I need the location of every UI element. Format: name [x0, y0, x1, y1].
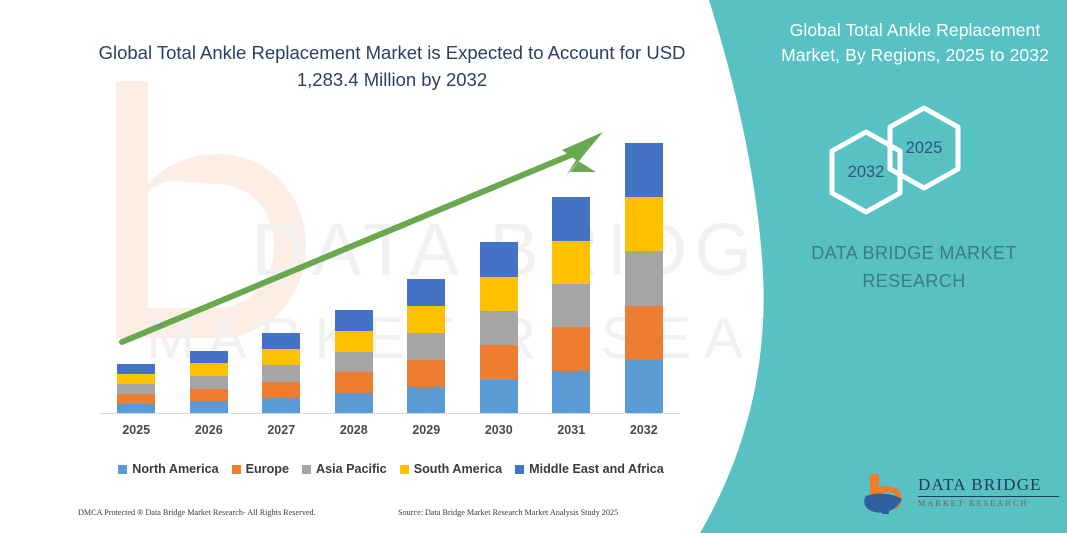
- bar-segment: [262, 333, 300, 349]
- bar-segment: [117, 384, 155, 394]
- footer: DMCA Protected ® Data Bridge Market Rese…: [78, 508, 690, 522]
- bar-segment: [190, 351, 228, 364]
- bar-segment: [407, 306, 445, 333]
- legend-label: Asia Pacific: [316, 462, 387, 476]
- x-axis-label: 2031: [536, 423, 606, 437]
- legend-item: Asia Pacific: [302, 462, 387, 476]
- x-axis-label: 2032: [609, 423, 679, 437]
- bar-segment: [480, 277, 518, 311]
- bar-column: [117, 364, 155, 414]
- logo-wordmark: DATA BRIDGE MARKET RESEARCH: [918, 475, 1060, 508]
- legend-label: North America: [132, 462, 218, 476]
- bar-segment: [625, 306, 663, 360]
- chart-legend: North AmericaEuropeAsia PacificSouth Ame…: [98, 459, 684, 479]
- bar-segment: [625, 197, 663, 251]
- bar-segment: [262, 382, 300, 398]
- brand-name: DATA BRIDGE MARKET RESEARCH: [774, 240, 1054, 296]
- infographic-canvas: DATA BRIDGE MARKET RESEARCH Global Total…: [0, 0, 1067, 533]
- footer-copyright: DMCA Protected ® Data Bridge Market Rese…: [78, 508, 316, 517]
- x-axis-label: 2025: [101, 423, 171, 437]
- bar-segment: [262, 365, 300, 381]
- bar-segment: [335, 352, 373, 373]
- footer-source: Source: Data Bridge Market Research Mark…: [398, 508, 618, 517]
- legend-swatch-icon: [302, 465, 311, 474]
- bar-segment: [552, 327, 590, 370]
- company-logo: DATA BRIDGE MARKET RESEARCH: [862, 470, 1062, 522]
- bar-segment: [117, 394, 155, 404]
- legend-label: Middle East and Africa: [529, 462, 664, 476]
- bar-segment: [480, 242, 518, 276]
- bar-column: [407, 279, 445, 414]
- bar-segment: [407, 279, 445, 306]
- hexagon-start-year: 2025: [886, 105, 962, 191]
- bar-segment: [335, 372, 373, 393]
- legend-label: South America: [414, 462, 502, 476]
- logo-subtitle: MARKET RESEARCH: [918, 499, 1060, 508]
- bar-column: [480, 242, 518, 414]
- bar-segment: [407, 360, 445, 387]
- bar-column: [552, 197, 590, 414]
- bar-column: [262, 333, 300, 414]
- bar-segment: [480, 311, 518, 345]
- bar-segment: [407, 333, 445, 360]
- bar-chart-plot: [100, 128, 680, 414]
- bar-segment: [625, 143, 663, 197]
- x-axis-label: 2030: [464, 423, 534, 437]
- right-panel-title: Global Total Ankle Replacement Market, B…: [776, 18, 1054, 68]
- x-axis-label: 2026: [174, 423, 244, 437]
- legend-swatch-icon: [118, 465, 127, 474]
- bar-segment: [407, 387, 445, 414]
- bar-segment: [552, 241, 590, 284]
- bar-segment: [480, 345, 518, 379]
- bar-segment: [552, 371, 590, 414]
- bar-segment: [262, 398, 300, 414]
- legend-item: South America: [400, 462, 502, 476]
- x-axis-labels: 20252026202720282029203020312032: [100, 423, 680, 445]
- brand-line2: RESEARCH: [774, 268, 1054, 296]
- brand-line1: DATA BRIDGE MARKET: [774, 240, 1054, 268]
- legend-item: Middle East and Africa: [515, 462, 664, 476]
- bar-segment: [117, 374, 155, 384]
- bar-column: [190, 351, 228, 414]
- bar-segment: [335, 393, 373, 414]
- bar-segment: [190, 389, 228, 402]
- bar-segment: [625, 251, 663, 305]
- right-panel-content: Global Total Ankle Replacement Market, B…: [762, 0, 1067, 533]
- bar-column: [625, 143, 663, 414]
- x-axis-label: 2028: [319, 423, 389, 437]
- legend-swatch-icon: [232, 465, 241, 474]
- x-axis-label: 2029: [391, 423, 461, 437]
- bar-segment: [335, 331, 373, 352]
- bar-segment: [552, 197, 590, 240]
- legend-item: Europe: [232, 462, 289, 476]
- bar-segment: [117, 364, 155, 374]
- x-axis-line: [100, 413, 680, 414]
- hexagon-badges: 2032 2025: [822, 105, 1012, 205]
- bar-segment: [625, 360, 663, 414]
- legend-label: Europe: [246, 462, 289, 476]
- bar-segment: [190, 363, 228, 376]
- hexagon-start-year-label: 2025: [886, 105, 962, 191]
- data-bridge-logo-icon: [862, 472, 914, 518]
- bar-segment: [190, 376, 228, 389]
- bar-segment: [335, 310, 373, 331]
- bar-segment: [262, 349, 300, 365]
- bar-segment: [480, 380, 518, 414]
- bar-segment: [552, 284, 590, 327]
- logo-divider: [918, 496, 1059, 497]
- legend-swatch-icon: [400, 465, 409, 474]
- legend-swatch-icon: [515, 465, 524, 474]
- page-title: Global Total Ankle Replacement Market is…: [76, 40, 708, 94]
- x-axis-label: 2027: [246, 423, 316, 437]
- legend-item: North America: [118, 462, 218, 476]
- bar-column: [335, 310, 373, 414]
- logo-title: DATA BRIDGE: [918, 475, 1060, 495]
